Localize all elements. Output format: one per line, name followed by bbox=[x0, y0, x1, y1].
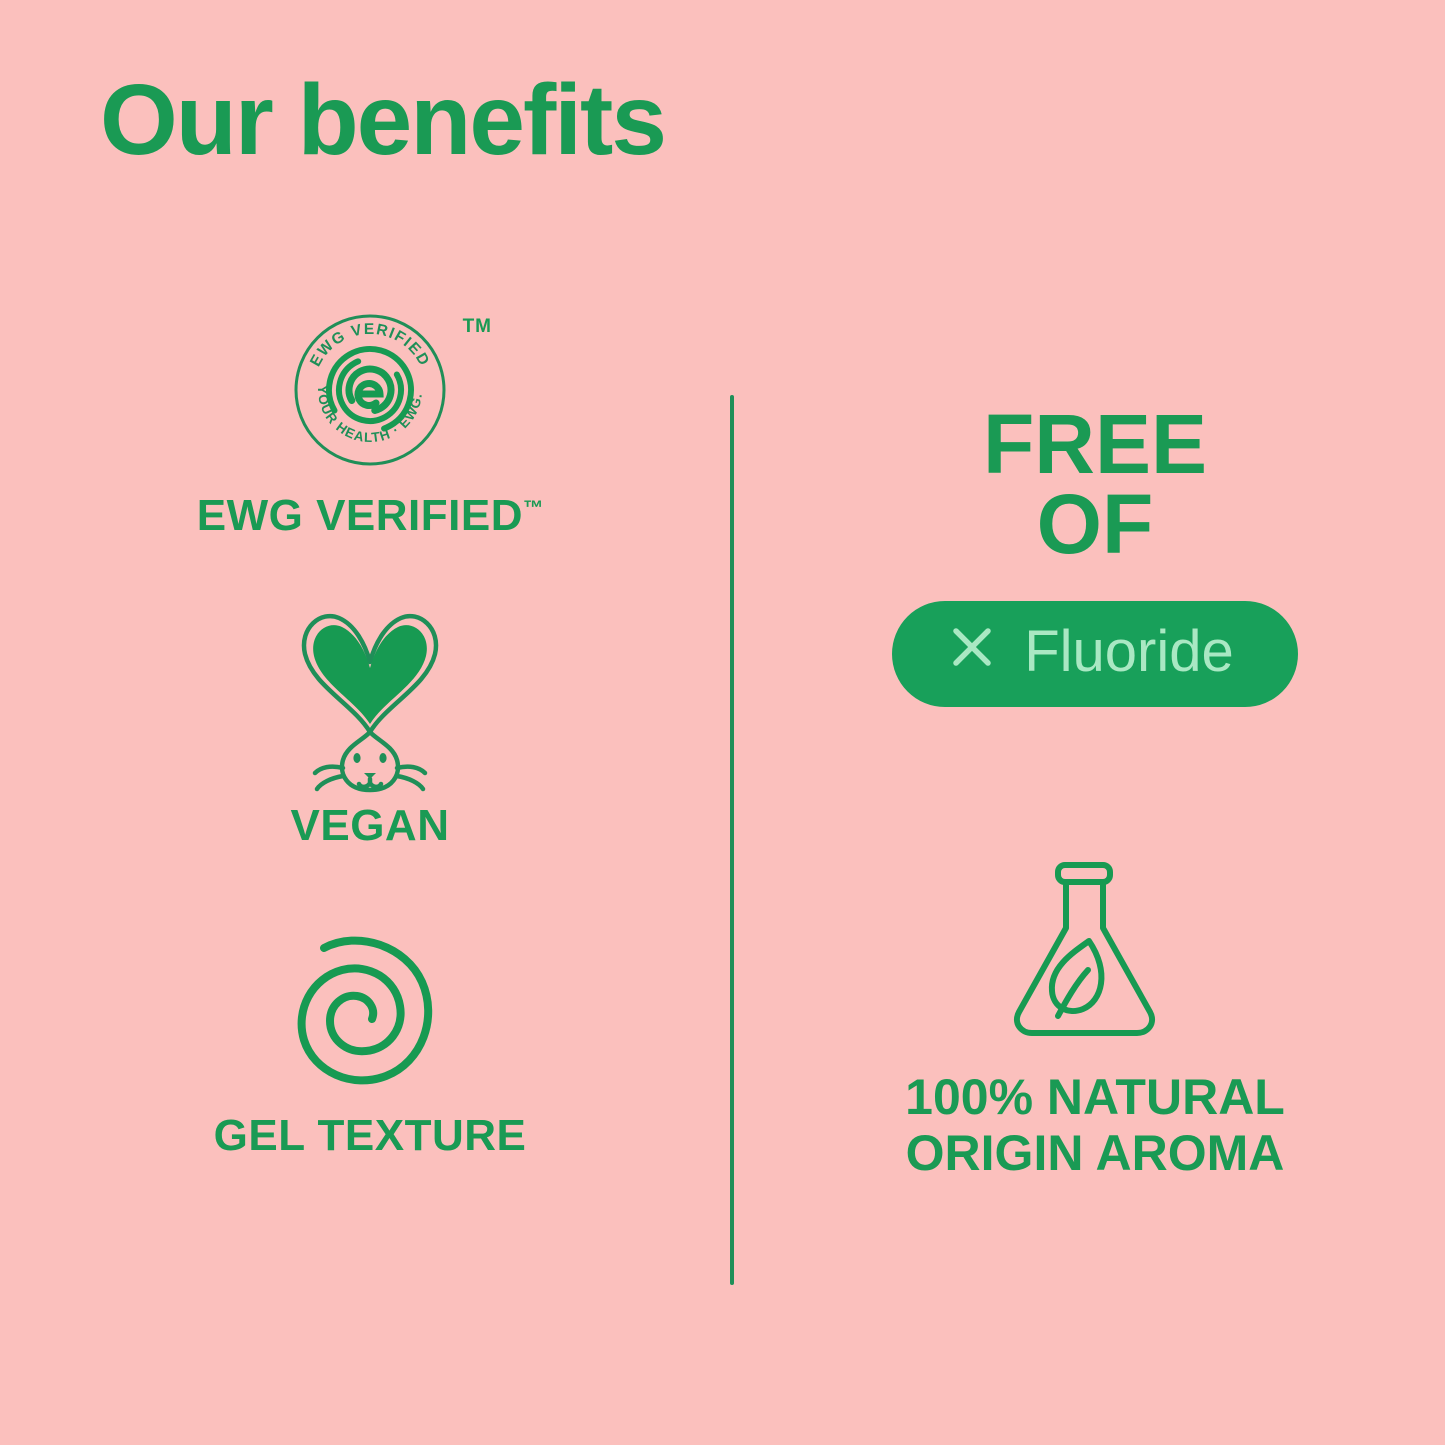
free-of-heading: FREE OF bbox=[790, 405, 1400, 565]
benefit-ewg-verified: EWG VERIFIED FOR YOUR HEALTH · EWG.ORG · bbox=[60, 300, 680, 538]
benefit-icon-wrapper bbox=[60, 610, 680, 790]
benefit-icon-wrapper bbox=[60, 920, 680, 1100]
benefit-label-ewg-verified: EWG VERIFIED™ bbox=[60, 494, 680, 538]
column-divider bbox=[730, 395, 734, 1285]
free-of-line-2: OF bbox=[790, 485, 1400, 565]
trademark-symbol: ™ bbox=[523, 497, 543, 519]
free-of-line-1: FREE bbox=[790, 405, 1400, 485]
benefit-label-natural-origin-aroma: 100% NATURAL ORIGIN AROMA bbox=[790, 1069, 1400, 1181]
benefit-label-gel-texture: GEL TEXTURE bbox=[60, 1114, 680, 1158]
right-benefits-column: FREE OF Fluoride bbox=[790, 405, 1400, 1181]
benefit-gel-texture: GEL TEXTURE bbox=[60, 920, 680, 1158]
gel-spiral-icon bbox=[280, 920, 460, 1100]
left-benefits-column: EWG VERIFIED FOR YOUR HEALTH · EWG.ORG · bbox=[60, 300, 680, 1158]
ewg-verified-badge-icon: EWG VERIFIED FOR YOUR HEALTH · EWG.ORG · bbox=[290, 310, 450, 470]
benefit-icon-wrapper bbox=[790, 857, 1400, 1037]
free-of-items: Fluoride bbox=[790, 601, 1400, 707]
free-of-item-fluoride[interactable]: Fluoride bbox=[892, 601, 1298, 707]
benefit-label-text: EWG VERIFIED bbox=[197, 491, 523, 540]
aroma-label-line-1: 100% NATURAL bbox=[790, 1069, 1400, 1125]
aroma-label-line-2: ORIGIN AROMA bbox=[790, 1125, 1400, 1181]
x-icon bbox=[948, 623, 996, 681]
benefits-infographic: Our benefits EWG VERIFIED bbox=[0, 0, 1445, 1445]
svg-text:EWG VERIFIED: EWG VERIFIED bbox=[307, 321, 433, 370]
benefit-vegan: VEGAN bbox=[60, 610, 680, 848]
benefit-natural-origin-aroma: 100% NATURAL ORIGIN AROMA bbox=[790, 857, 1400, 1181]
page-title: Our benefits bbox=[100, 70, 665, 170]
free-of-item-label: Fluoride bbox=[1024, 623, 1234, 681]
benefit-label-vegan: VEGAN bbox=[60, 804, 680, 848]
flask-leaf-icon bbox=[1000, 852, 1190, 1042]
benefit-icon-wrapper: EWG VERIFIED FOR YOUR HEALTH · EWG.ORG · bbox=[60, 300, 680, 480]
ewg-trademark-icon: TM bbox=[463, 316, 492, 338]
vegan-bunny-heart-icon bbox=[275, 600, 465, 800]
